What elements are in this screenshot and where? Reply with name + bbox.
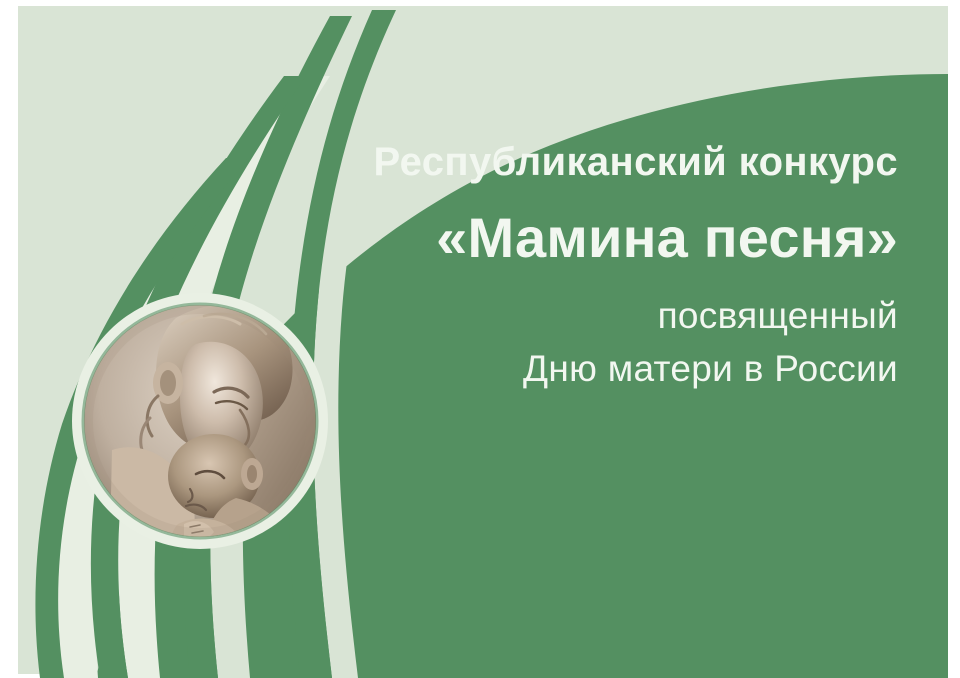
poster-artwork [0,0,960,678]
poster-canvas: Республиканский конкурс «Мамина песня» п… [0,0,960,678]
